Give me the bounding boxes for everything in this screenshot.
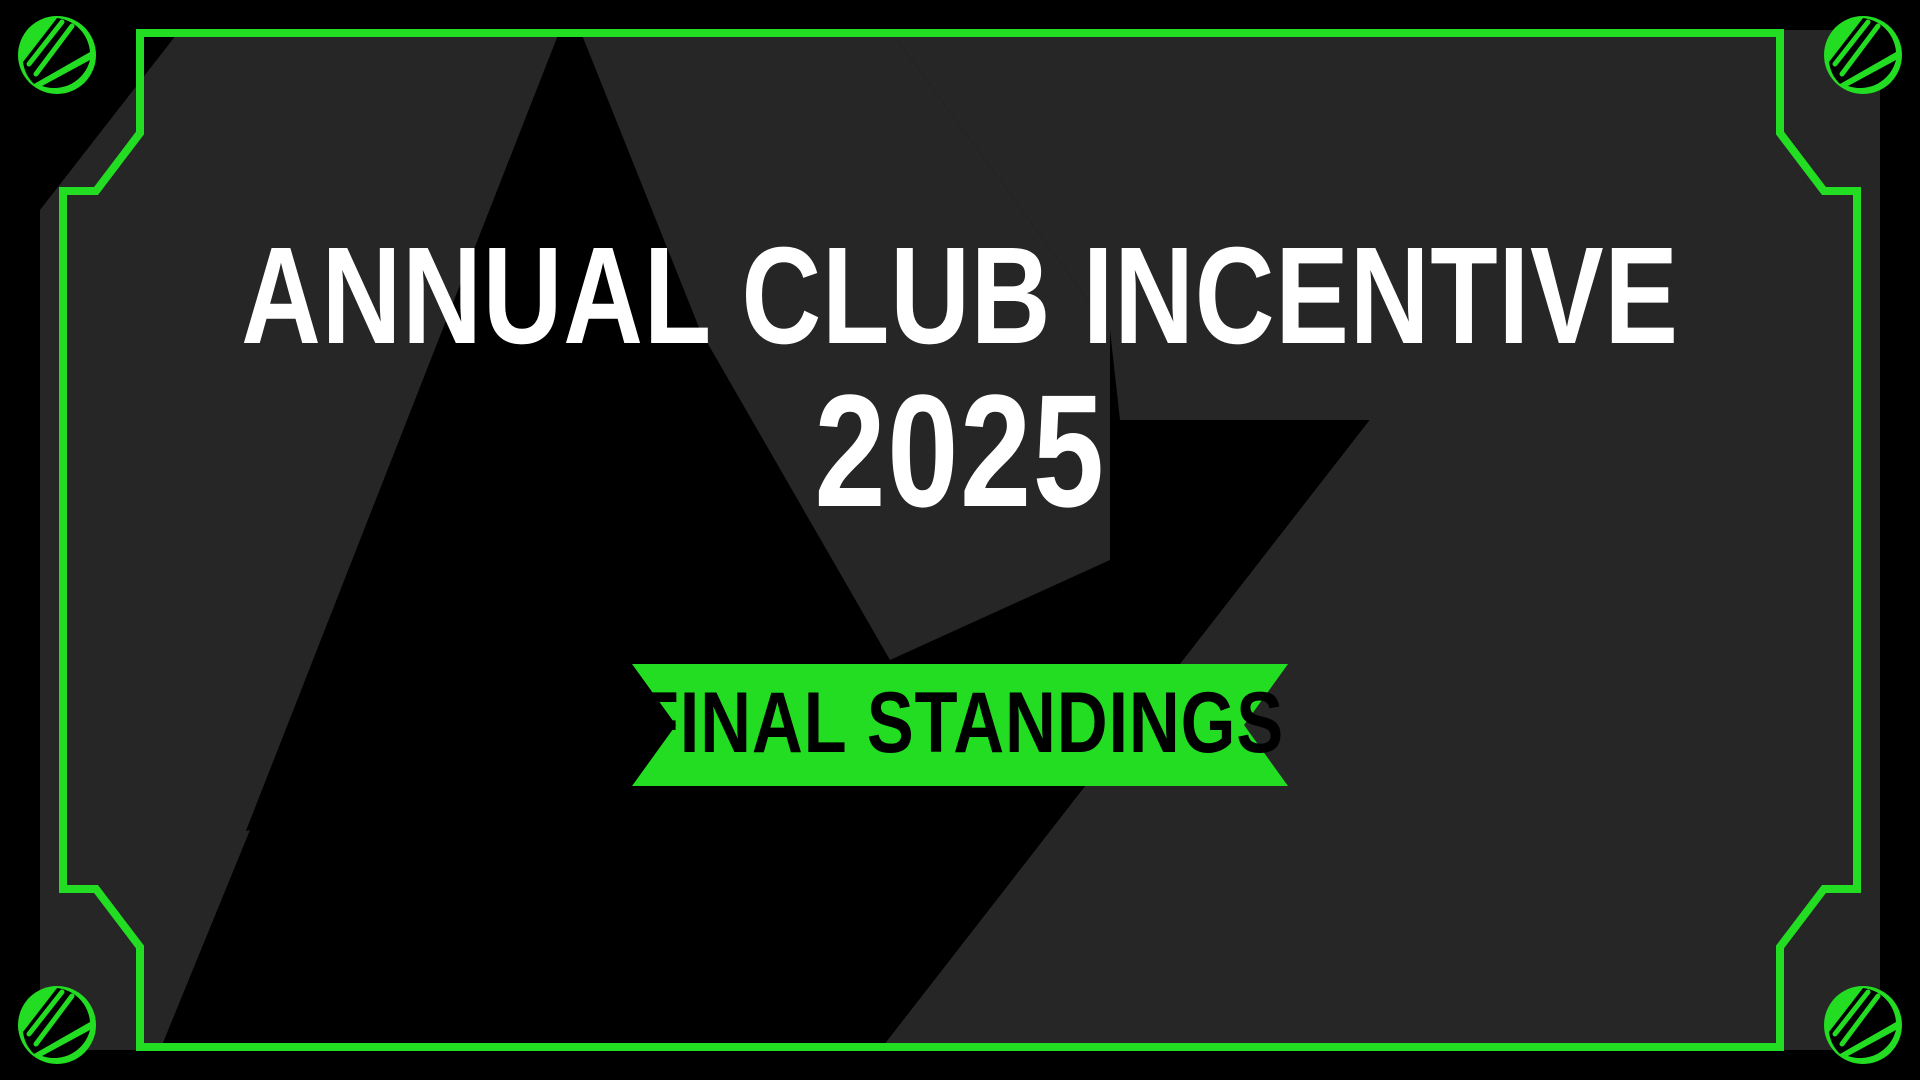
page-title: ANNUAL CLUB INCENTIVE bbox=[192, 232, 1728, 360]
status-badge: FINAL STANDINGS bbox=[691, 664, 1229, 786]
title-block: ANNUAL CLUB INCENTIVE 2025 bbox=[0, 232, 1920, 528]
page-title-year: 2025 bbox=[192, 374, 1728, 528]
slide-canvas: ANNUAL CLUB INCENTIVE 2025 FINAL STANDIN… bbox=[0, 0, 1920, 1080]
status-banner: FINAL STANDINGS bbox=[632, 664, 1288, 786]
slide-content: ANNUAL CLUB INCENTIVE 2025 FINAL STANDIN… bbox=[0, 0, 1920, 1080]
